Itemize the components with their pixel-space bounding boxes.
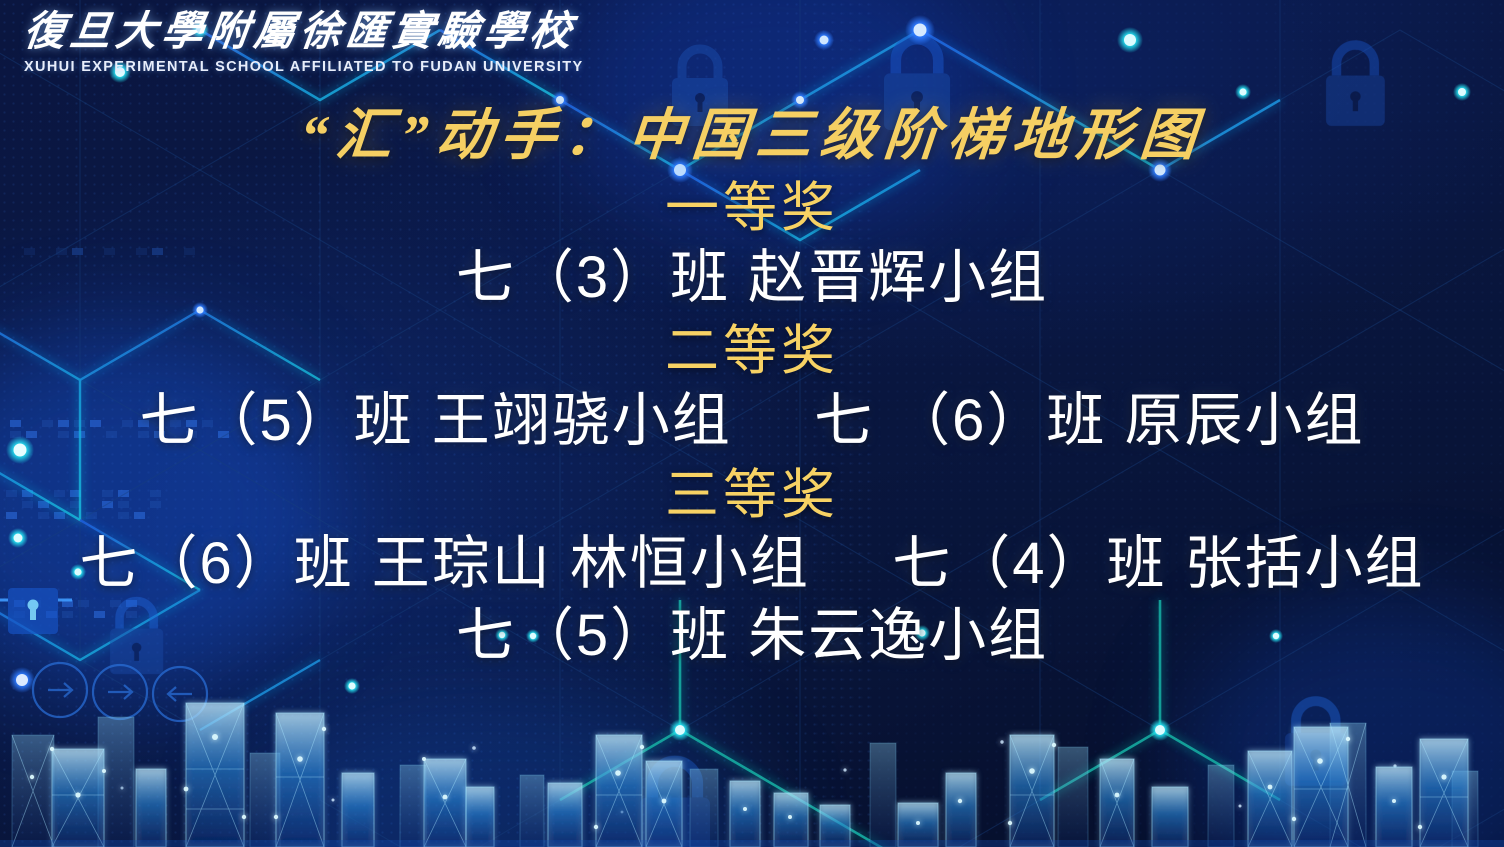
- award-tier-label: 三等奖: [0, 464, 1504, 528]
- winner-entry: 七 （6）班 原辰小组: [814, 388, 1365, 453]
- winner-entry: 七（5）班 王翊骁小组: [139, 388, 731, 453]
- award-tier-label: 一等奖: [0, 177, 1504, 241]
- award-winner-row: 七（5）班 朱云逸小组: [0, 601, 1504, 671]
- winner-entry: 七（5）班 朱云逸小组: [456, 603, 1048, 668]
- winner-entry: 七（6）班 王琮山 林恒小组: [79, 531, 810, 596]
- school-name-chinese: 復旦大學附屬徐匯實驗學校: [21, 8, 547, 55]
- slide-content: “汇”动手：中国三级阶梯地形图 一等奖 七（3）班 赵晋辉小组 二等奖 七（5）…: [0, 104, 1504, 670]
- presentation-slide: 復旦大學附屬徐匯實驗學校 XUHUI EXPERIMENTAL SCHOOL A…: [0, 0, 1504, 847]
- award-winner-row: 七（5）班 王翊骁小组 七 （6）班 原辰小组: [0, 386, 1504, 456]
- winner-entry: 七（4）班 张括小组: [892, 531, 1424, 596]
- award-winner-row: 七（3）班 赵晋辉小组: [0, 243, 1504, 313]
- award-tier-label: 二等奖: [0, 320, 1504, 384]
- page-title: “汇”动手：中国三级阶梯地形图: [0, 104, 1504, 169]
- winner-entry: 七（3）班 赵晋辉小组: [456, 245, 1048, 310]
- school-logo: 復旦大學附屬徐匯實驗學校 XUHUI EXPERIMENTAL SCHOOL A…: [24, 8, 544, 75]
- school-name-english: XUHUI EXPERIMENTAL SCHOOL AFFILIATED TO …: [24, 59, 544, 75]
- award-winner-row: 七（6）班 王琮山 林恒小组 七（4）班 张括小组: [0, 529, 1504, 599]
